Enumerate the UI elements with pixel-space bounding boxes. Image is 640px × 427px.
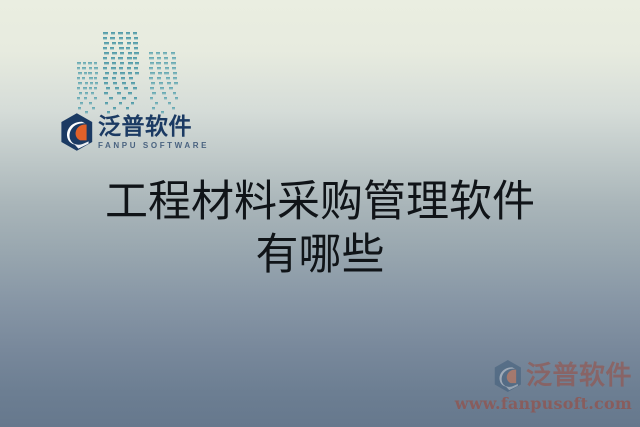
pixel-buildings-icon	[76, 30, 196, 116]
watermark-brand-name: 泛普软件	[526, 363, 632, 389]
watermark: 泛普软件 www.fanpusoft.com	[400, 359, 632, 413]
poster-canvas: 泛普软件 FANPU SOFTWARE 工程材料采购管理软件 有哪些 泛普软件 …	[0, 0, 640, 427]
brand-logo: 泛普软件 FANPU SOFTWARE	[60, 112, 209, 152]
watermark-brand-row: 泛普软件	[400, 359, 632, 393]
page-title-line-2: 有哪些	[0, 229, 640, 282]
watermark-url: www.fanpusoft.com	[400, 394, 632, 413]
pixel-buildings-decoration	[76, 30, 196, 116]
brand-logo-text: 泛普软件 FANPU SOFTWARE	[98, 114, 209, 151]
watermark-logo-mark-icon	[493, 359, 523, 393]
brand-name-en: FANPU SOFTWARE	[98, 141, 209, 151]
fanpu-logo-mark-icon	[60, 112, 94, 152]
page-title-line-1: 工程材料采购管理软件	[0, 176, 640, 229]
page-title: 工程材料采购管理软件 有哪些	[0, 176, 640, 282]
brand-name-cn: 泛普软件	[98, 115, 209, 139]
